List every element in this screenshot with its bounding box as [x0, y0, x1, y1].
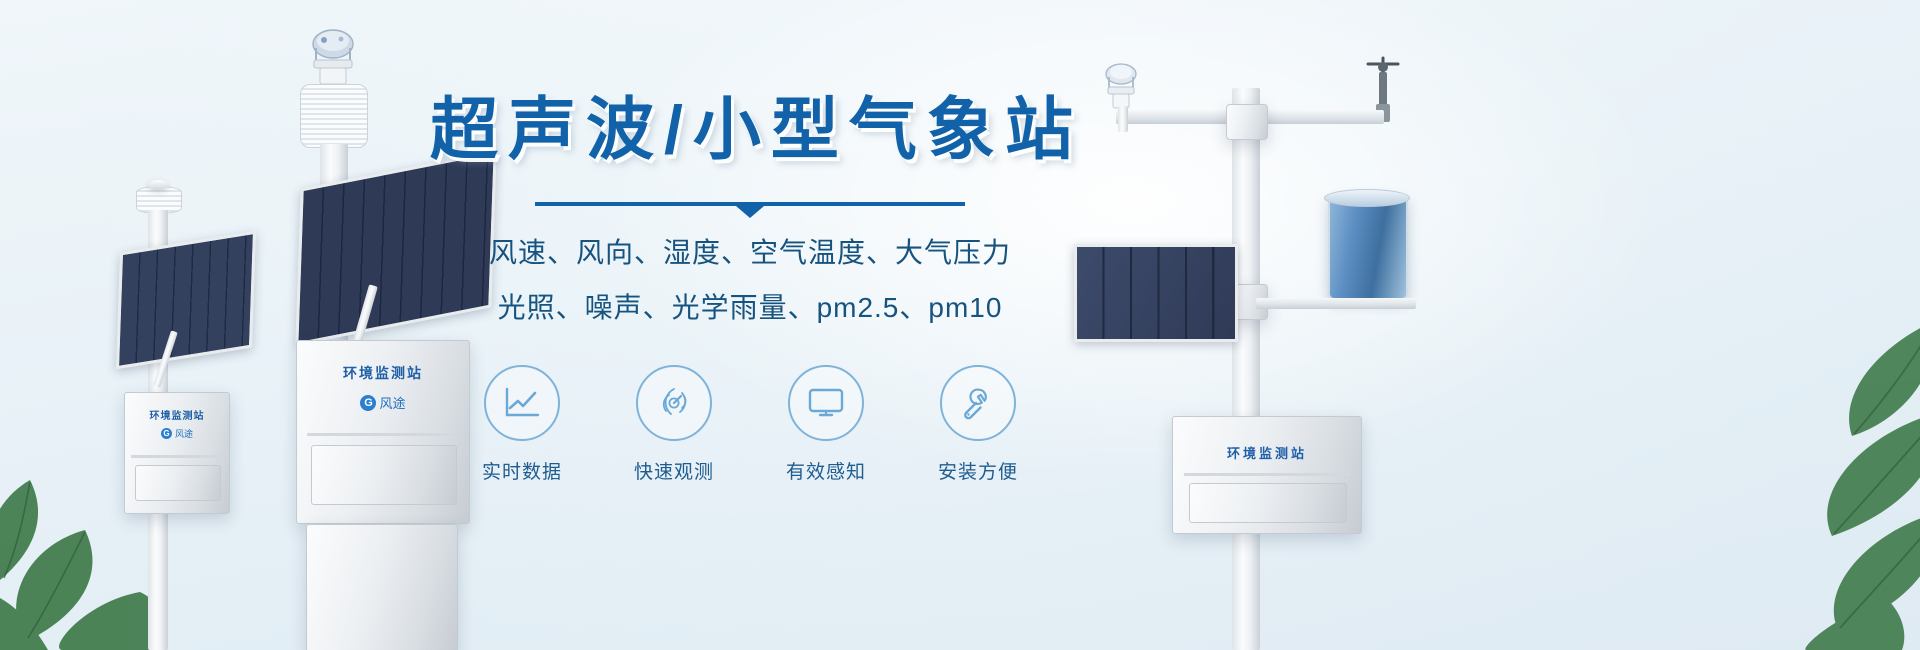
feature-label: 安装方便 — [935, 457, 1021, 484]
page-title: 超声波/小型气象站 — [430, 96, 1070, 164]
cabinet-brand-left: G 风途 — [125, 427, 229, 440]
radiation-shield-center — [300, 84, 368, 148]
feature-item-rapid-observation[interactable]: 快速观测 — [631, 365, 717, 484]
arm-riser-right — [1118, 106, 1128, 132]
brand-mark-icon-center: G — [360, 395, 376, 411]
feature-label: 快速观测 — [631, 457, 717, 484]
brand-name-left: 风途 — [175, 427, 193, 440]
feature-icon-circle — [940, 365, 1016, 441]
monitor-icon — [807, 387, 845, 419]
brand-mark-icon-left: G — [161, 428, 172, 439]
cabinet-door-left — [135, 465, 221, 501]
feature-item-realtime-data[interactable]: 实时数据 — [479, 365, 565, 484]
cabinet-seam-left — [131, 455, 223, 458]
cabinet-lower-center — [306, 524, 458, 650]
ultrasonic-sensor-icon — [296, 28, 370, 86]
product-banner: 环境监测站 G 风途 环境监测站 — [0, 0, 1920, 650]
radar-signal-icon — [655, 384, 693, 422]
mast-right — [1232, 88, 1260, 650]
feature-list: 实时数据 快速观测 — [430, 365, 1070, 484]
mast-collar-right — [1226, 104, 1268, 140]
cabinet-label-right: 环境监测站 — [1173, 443, 1361, 462]
shelf-bracket-right — [1256, 298, 1416, 309]
feature-item-effective-sensing[interactable]: 有效感知 — [783, 365, 869, 484]
rain-gauge-right — [1328, 196, 1408, 300]
feature-item-easy-installation[interactable]: 安装方便 — [935, 365, 1021, 484]
cabinet-seam-right — [1184, 473, 1349, 476]
feature-label: 有效感知 — [783, 457, 869, 484]
feature-icon-circle — [484, 365, 560, 441]
feature-icon-circle — [636, 365, 712, 441]
brand-name-center: 风途 — [379, 393, 405, 412]
solar-panel-right — [1074, 244, 1238, 342]
cabinet-label-left: 环境监测站 — [125, 407, 229, 422]
title-divider — [535, 202, 965, 206]
sensor-head-left — [148, 180, 168, 190]
cabinet-left: 环境监测站 G 风途 — [124, 392, 230, 514]
banner-content: 超声波/小型气象站 风速、风向、湿度、空气温度、大气压力 光照、噪声、光学雨量、… — [430, 96, 1070, 484]
solar-panel-left — [116, 231, 256, 369]
wrench-icon — [959, 384, 997, 422]
cabinet-door-right — [1189, 483, 1347, 523]
line-chart-icon — [503, 386, 541, 420]
subtitle-line-2: 光照、噪声、光学雨量、pm2.5、pm10 — [430, 285, 1070, 330]
cabinet-right: 环境监测站 — [1172, 416, 1362, 534]
feature-label: 实时数据 — [479, 457, 565, 484]
weather-station-right: 环境监测站 — [1060, 48, 1460, 650]
subtitle-line-1: 风速、风向、湿度、空气温度、大气压力 — [430, 230, 1070, 275]
rain-gauge-rim-right — [1324, 189, 1410, 207]
feature-icon-circle — [788, 365, 864, 441]
